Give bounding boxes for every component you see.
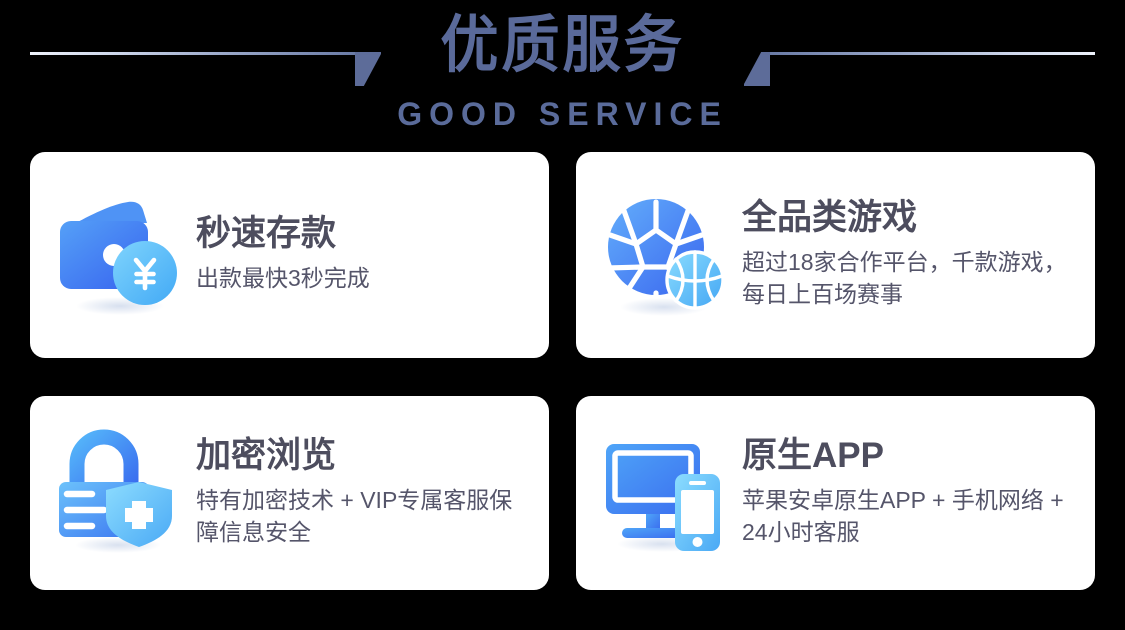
page-subtitle: GOOD SERVICE (0, 96, 1125, 133)
feature-card-games[interactable]: 全品类游戏 超过18家合作平台，千款游戏，每日上百场赛事 (576, 152, 1095, 358)
feature-card-text: 全品类游戏 超过18家合作平台，千款游戏，每日上百场赛事 (742, 199, 1085, 311)
card-title: 秒速存款 (196, 215, 539, 254)
feature-card-encryption[interactable]: 加密浏览 特有加密技术 + VIP专属客服保障信息安全 (30, 396, 549, 590)
lock-shield-icon (52, 428, 182, 558)
card-subtitle: 苹果安卓原生APP + 手机网络 + 24小时客服 (742, 484, 1072, 549)
wallet-yen-icon (52, 190, 182, 320)
monitor-phone-icon (598, 428, 728, 558)
feature-card-deposit[interactable]: 秒速存款 出款最快3秒完成 (30, 152, 549, 358)
card-title: 加密浏览 (196, 437, 539, 476)
card-subtitle: 出款最快3秒完成 (196, 262, 539, 295)
feature-card-text: 加密浏览 特有加密技术 + VIP专属客服保障信息安全 (196, 437, 539, 549)
soccer-basketball-icon (598, 190, 728, 320)
page-title: 优质服务 (34, 10, 1092, 81)
feature-card-text: 秒速存款 出款最快3秒完成 (196, 215, 539, 294)
card-title: 原生APP (742, 437, 1085, 476)
feature-card-native-app[interactable]: 原生APP 苹果安卓原生APP + 手机网络 + 24小时客服 (576, 396, 1095, 590)
page-header: 优质服务 GOOD SERVICE (0, 0, 1125, 150)
feature-card-text: 原生APP 苹果安卓原生APP + 手机网络 + 24小时客服 (742, 437, 1085, 549)
card-subtitle: 超过18家合作平台，千款游戏，每日上百场赛事 (742, 246, 1072, 311)
card-subtitle: 特有加密技术 + VIP专属客服保障信息安全 (196, 484, 531, 549)
feature-card-grid: 秒速存款 出款最快3秒完成 (30, 152, 1095, 590)
card-title: 全品类游戏 (742, 199, 1085, 238)
